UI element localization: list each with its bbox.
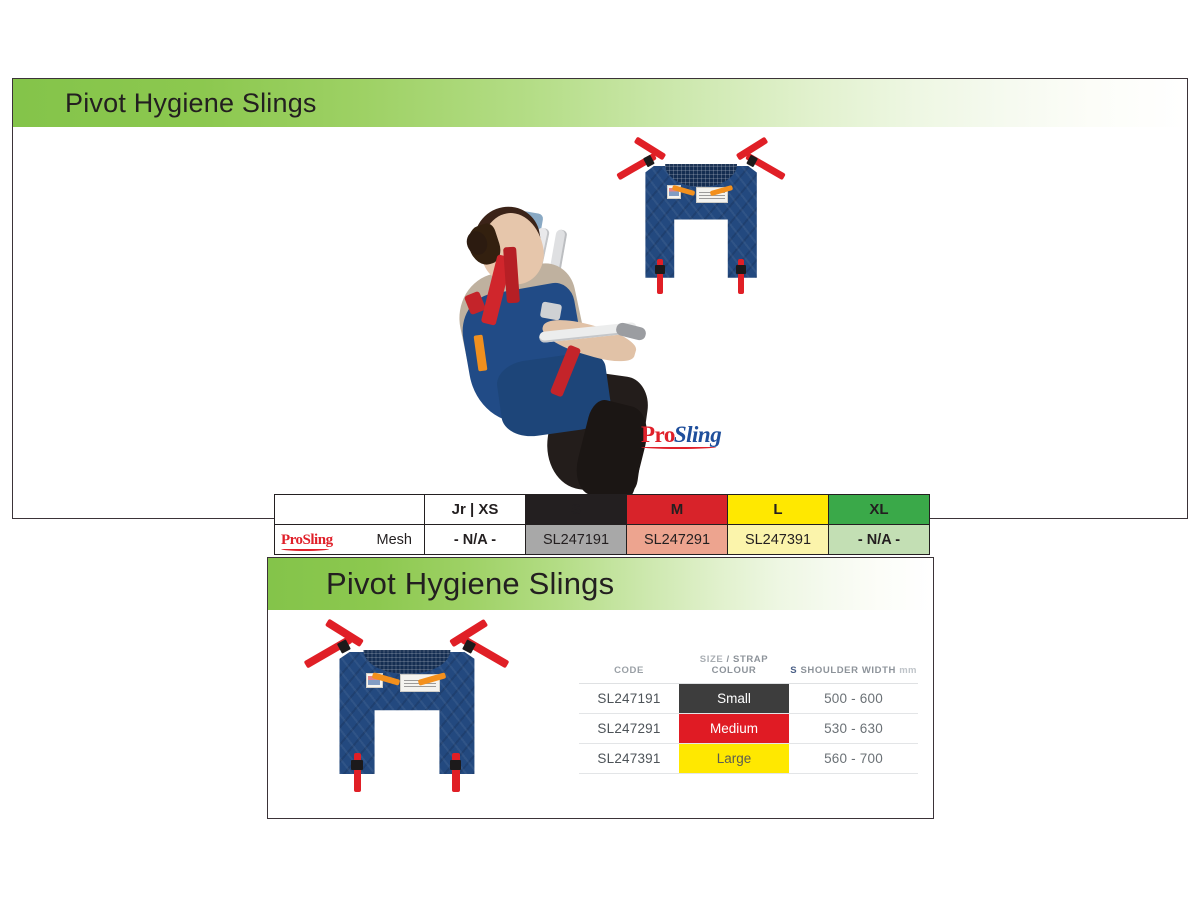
table-header-m: M [627,495,728,525]
status-badge: Large [679,744,789,773]
spec-cell-code: SL247391 [579,744,679,774]
table-header-xl: XL [829,495,930,525]
table-row: SL247191 Small 500 - 600 [579,684,918,714]
spec-cell-code: SL247191 [579,684,679,714]
spec-table: CODE SIZE / STRAP COLOUR S SHOULDER WIDT… [579,654,918,774]
spec-header-width-unit: mm [899,665,917,676]
table-cell-brand: ProSling Mesh [275,525,425,555]
prosling-logo-swoosh [281,549,330,551]
sling-leg-buckle-left [351,760,363,770]
table-cell-jr-xs: - N/A - [425,525,526,555]
spec-header-width-main: SHOULDER WIDTH [800,665,895,676]
prosling-logo-swoosh [641,447,717,449]
page-canvas: Pivot Hygiene Slings [0,0,1200,900]
hoist-pivot-icon [540,301,562,320]
table-cell-s: SL247191 [526,525,627,555]
spec-cell-size: Small [679,684,789,714]
size-code-table: Jr | XS S M L XL ProSling [274,494,930,555]
table-header-row: Jr | XS S M L XL [275,495,930,525]
page-title: Pivot Hygiene Slings [65,88,317,119]
product-panel-bottom: Pivot Hygiene Slings [267,557,934,819]
table-cell-m: SL247291 [627,525,728,555]
spec-header-code: CODE [579,654,679,684]
table-header-blank [275,495,425,525]
material-label: Mesh [377,532,416,548]
spec-header-size-word: SIZE [700,654,724,665]
page-title-bottom: Pivot Hygiene Slings [326,566,614,602]
table-header-s: S [526,495,627,525]
status-badge: Medium [679,714,789,743]
panel-body-top: ProSling Jr | XS S M L XL [13,127,1187,518]
spec-header-shoulder-width: S SHOULDER WIDTH mm [789,654,918,684]
product-panel-top: Pivot Hygiene Slings [12,78,1188,519]
spec-cell-width: 530 - 630 [789,714,918,744]
table-header-jr-xs: Jr | XS [425,495,526,525]
prosling-logo: ProSling [641,423,721,446]
spec-cell-size: Medium [679,714,789,744]
sling-leg-strap-left [354,753,362,792]
panel-header-bottom: Pivot Hygiene Slings [268,558,933,610]
sling-product-photo-bottom [298,620,516,795]
status-badge: Small [679,684,789,713]
table-header-l: L [728,495,829,525]
sling-leg-strap-left [657,259,663,294]
prosling-logo-pro: Pro [641,422,675,447]
sling-product-photo-top [611,137,791,297]
prosling-logo-pro: ProSling [281,532,333,548]
table-row: SL247291 Medium 530 - 630 [579,714,918,744]
spec-header-width-s: S [790,665,797,676]
panel-header-top: Pivot Hygiene Slings [13,79,1187,127]
spec-cell-code: SL247291 [579,714,679,744]
table-cell-xl: - N/A - [829,525,930,555]
spec-cell-width: 500 - 600 [789,684,918,714]
spec-table-header-row: CODE SIZE / STRAP COLOUR S SHOULDER WIDT… [579,654,918,684]
table-cell-l: SL247391 [728,525,829,555]
sling-leg-strap-right [738,259,744,294]
spec-cell-size: Large [679,744,789,774]
spec-cell-width: 560 - 700 [789,744,918,774]
sling-leg-buckle-right [736,265,746,274]
prosling-logo-sling: Sling [674,422,721,447]
prosling-logo: ProSling [281,532,333,548]
sling-leg-strap-right [452,753,460,792]
hero-imagery: ProSling [13,127,1187,417]
table-row: SL247391 Large 560 - 700 [579,744,918,774]
sling-leg-buckle-left [655,265,665,274]
table-row: ProSling Mesh - N/A - SL247191 SL247291 … [275,525,930,555]
sling-leg-buckle-right [450,760,462,770]
panel-body-bottom: CODE SIZE / STRAP COLOUR S SHOULDER WIDT… [268,610,933,818]
spec-header-size: SIZE / STRAP COLOUR [679,654,789,684]
